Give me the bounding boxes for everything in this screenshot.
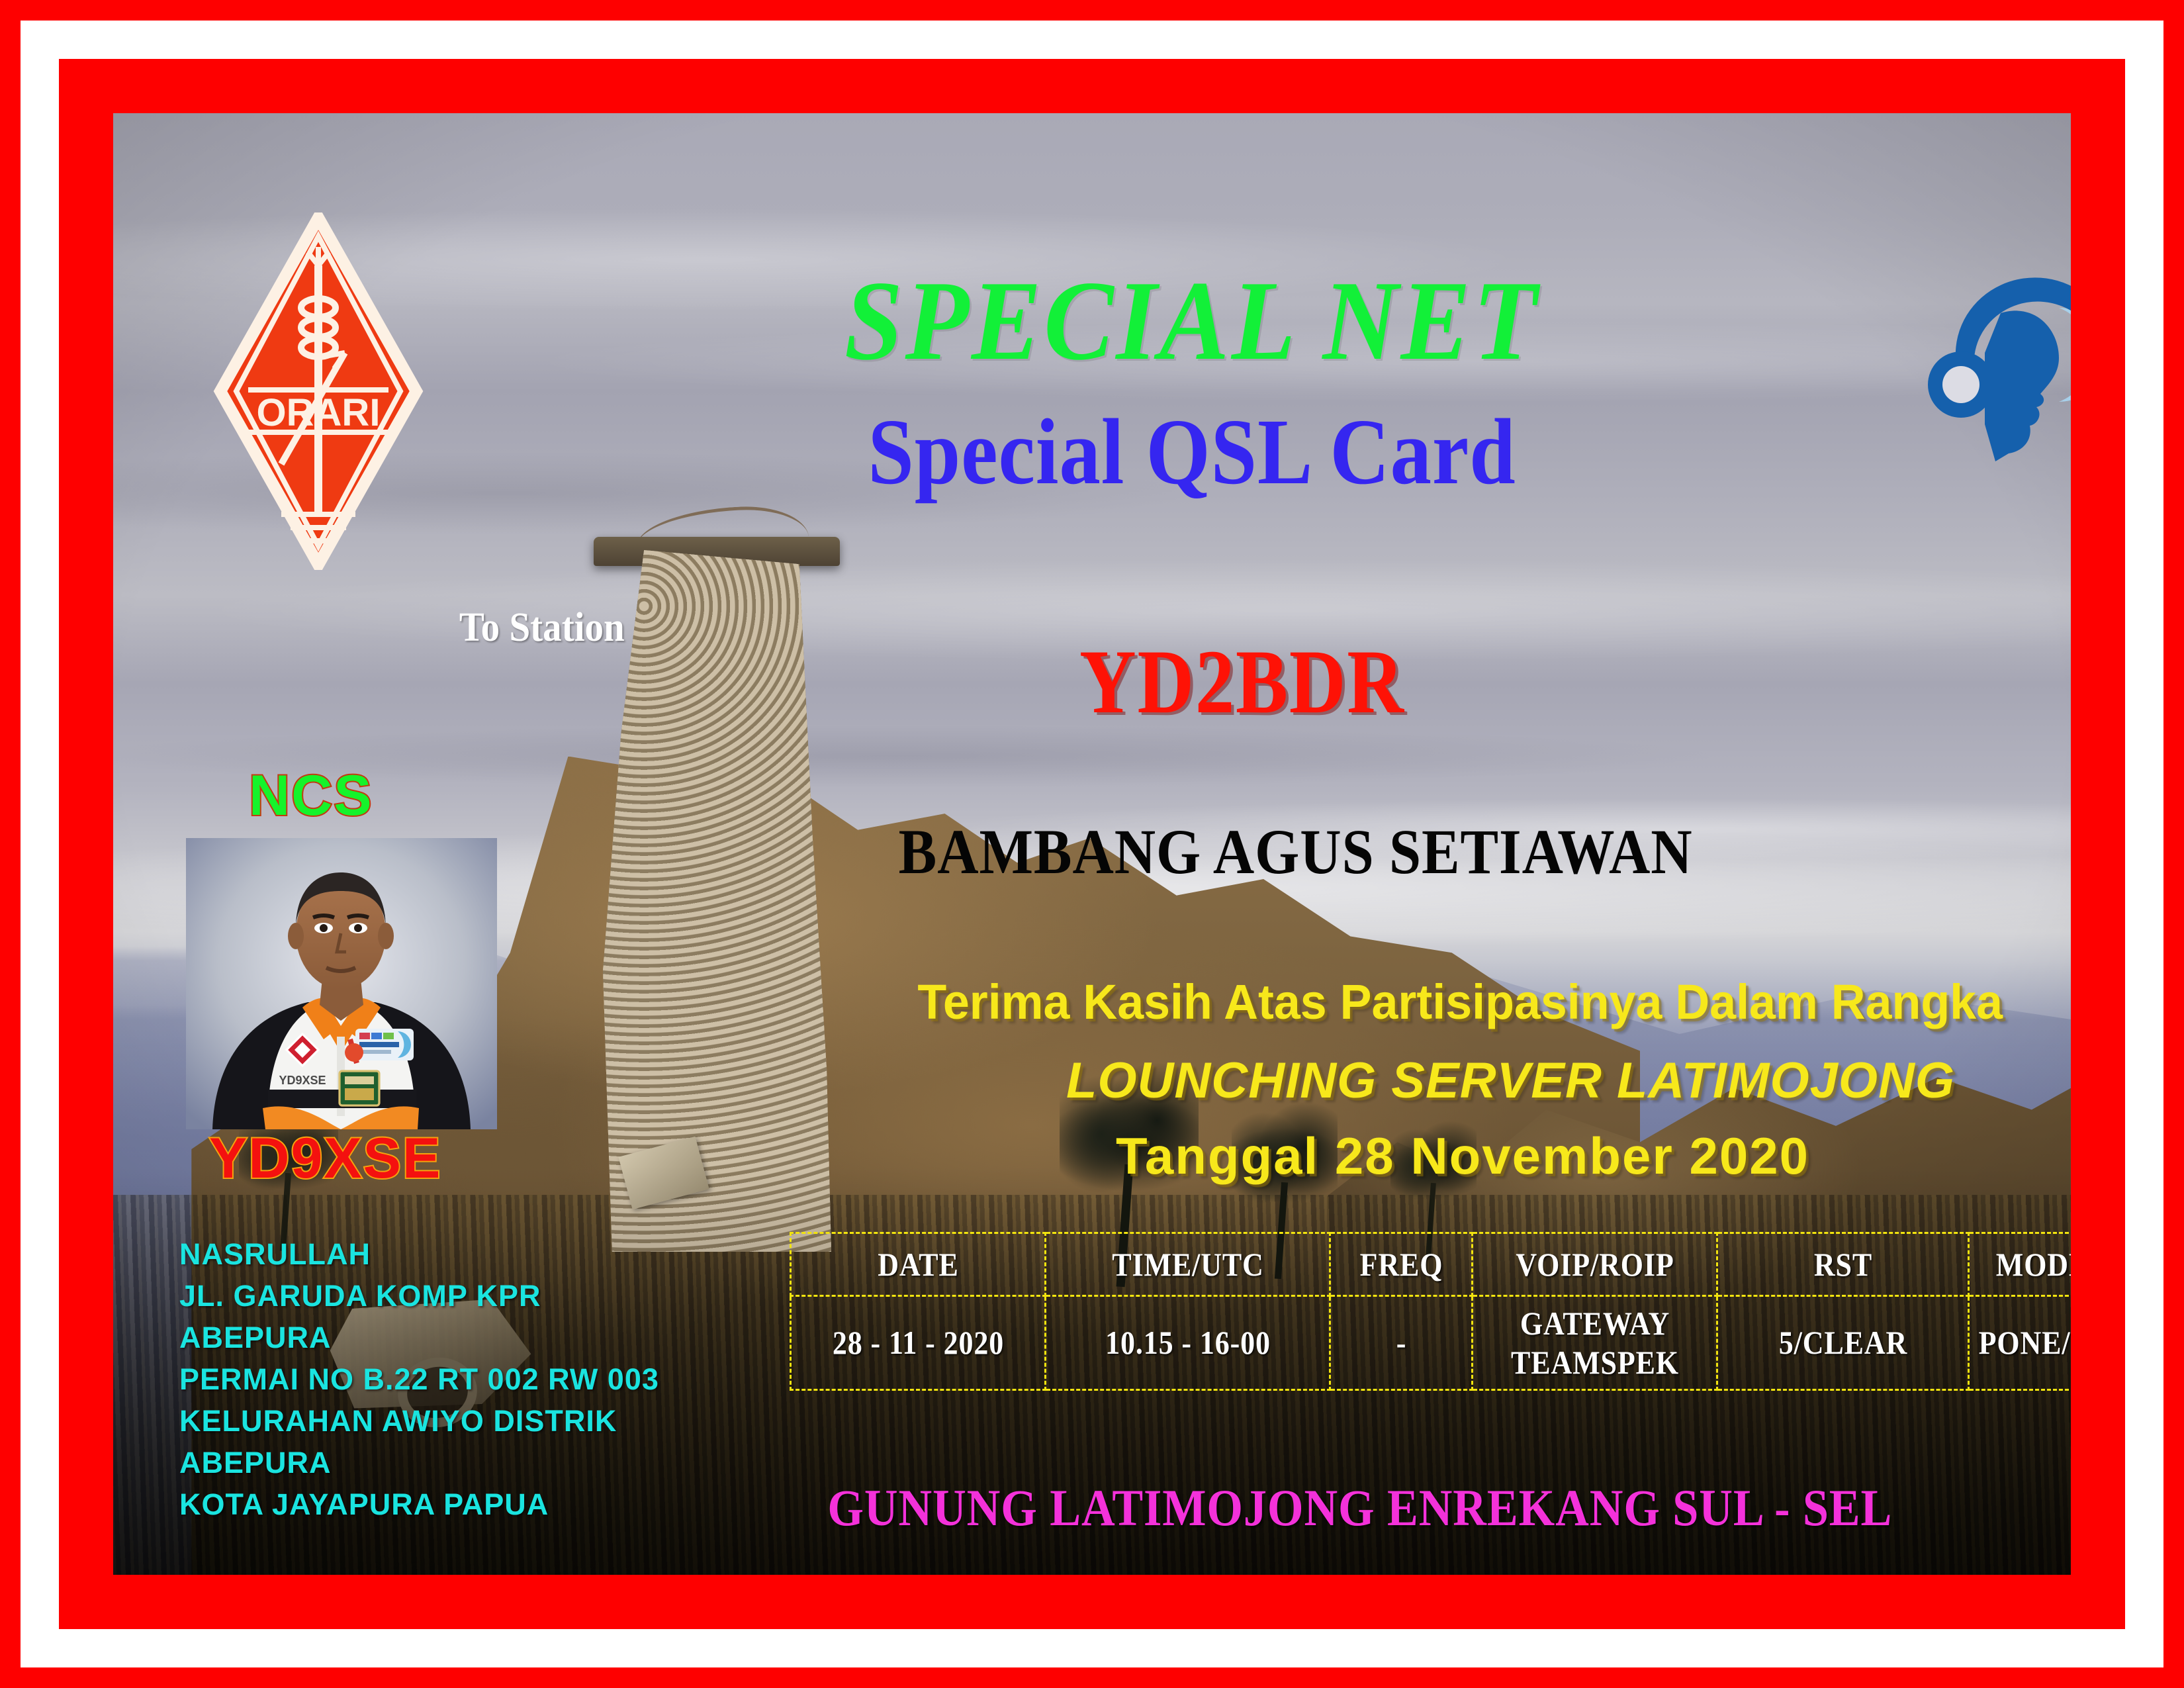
address-line: ABEPURA: [179, 1317, 775, 1358]
address-line: ABEPURA: [179, 1442, 775, 1483]
teamspeak-headset-logo: [1927, 226, 2071, 484]
ncs-label: NCS: [249, 763, 373, 829]
event-thanks-line: Terima Kasih Atas Partisipasinya Dalam R…: [917, 974, 2003, 1030]
address-line: JL. GARUDA KOMP KPR: [179, 1275, 775, 1317]
location-line: GUNUNG LATIMOJONG ENREKANG SUL - SEL: [827, 1478, 1892, 1538]
cell-rst: 5/CLEAR: [1732, 1296, 1953, 1390]
qso-details-table: DATE TIME/UTC FREQ VOIP/ROIP RST MODE 28…: [790, 1232, 2071, 1391]
uniform-callsign-text: YD9XSE: [279, 1074, 326, 1087]
cell-freq: -: [1338, 1296, 1463, 1390]
orari-logo: ORARI: [212, 212, 424, 570]
address-line: KELURAHAN AWIYO DISTRIK: [179, 1400, 775, 1442]
address-line: PERMAI NO B.22 RT 002 RW 003: [179, 1358, 775, 1400]
address-line: NASRULLAH: [179, 1233, 775, 1275]
ncs-address-block: NASRULLAH JL. GARUDA KOMP KPR ABEPURA PE…: [179, 1233, 775, 1525]
qsl-card-white-border: ORARI: [21, 21, 2163, 1667]
table-header-row: DATE TIME/UTC FREQ VOIP/ROIP RST MODE: [791, 1233, 2071, 1296]
cell-time: 10.15 - 16-00: [1062, 1296, 1312, 1390]
to-station-label: To Station: [459, 604, 625, 651]
operator-name: BAMBANG AGUS SETIAWAN: [899, 815, 1693, 888]
column-header-freq: FREQ: [1338, 1233, 1463, 1296]
qsl-card-photo-area: ORARI: [113, 113, 2071, 1575]
page-subtitle: Special QSL Card: [627, 404, 1756, 498]
column-header-rst: RST: [1732, 1233, 1953, 1296]
column-header-voip: VOIP/ROIP: [1487, 1233, 1703, 1296]
column-header-mode: MODE: [1978, 1233, 2071, 1296]
event-name-line: LOUNCHING SERVER LATIMOJONG: [1066, 1052, 1955, 1109]
column-header-time: TIME/UTC: [1062, 1233, 1312, 1296]
column-header-date: DATE: [806, 1233, 1030, 1296]
table-row: 28 - 11 - 2020 10.15 - 16-00 - GATEWAY T…: [791, 1296, 2071, 1390]
cell-date: 28 - 11 - 2020: [806, 1296, 1030, 1390]
qsl-card-inner-red-border: ORARI: [59, 59, 2125, 1629]
ncs-operator-portrait: YD9XSE: [186, 838, 497, 1129]
cell-voip: GATEWAY TEAMSPEK: [1487, 1296, 1703, 1390]
page-title: SPECIAL NET: [602, 264, 1783, 378]
address-line: KOTA JAYAPURA PAPUA: [179, 1483, 775, 1525]
cell-mode: PONE/CW: [1978, 1296, 2071, 1390]
ncs-callsign: YD9XSE: [209, 1126, 441, 1192]
qsl-card-outer-border: ORARI: [0, 0, 2184, 1688]
station-callsign: YD2BDR: [1079, 636, 1405, 727]
orari-wordmark: ORARI: [257, 391, 381, 434]
event-date-line: Tanggal 28 November 2020: [1116, 1126, 1809, 1186]
